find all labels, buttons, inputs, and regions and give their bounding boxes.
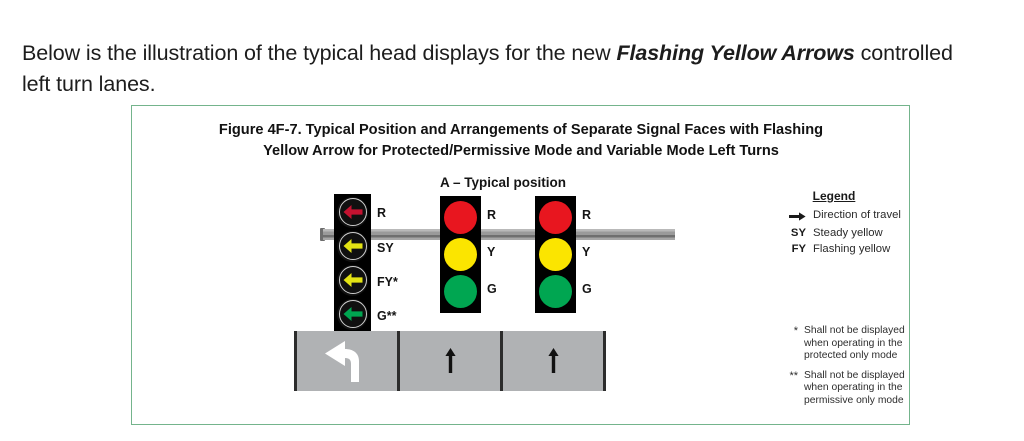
figure-caption-line-1: Figure 4F-7. Typical Position and Arrang… — [146, 120, 896, 141]
legend-key-fy: FY — [780, 243, 813, 255]
lane-left-turn — [294, 331, 397, 391]
right-arrow-icon — [780, 209, 813, 223]
lens-label-arrow-sy: SY — [377, 241, 394, 255]
legend-key-sy: SY — [780, 227, 813, 239]
footnote-text-single: Shall not be displayed when operating in… — [804, 325, 922, 363]
lens-label-ball2-y: Y — [582, 245, 590, 259]
lane-diagram — [294, 331, 606, 391]
legend-row-steady-yellow: SY Steady yellow — [780, 227, 910, 239]
lens-label-ball2-g: G — [582, 282, 592, 296]
lane-through-1 — [397, 331, 500, 391]
left-arrow-icon — [342, 238, 364, 254]
lens-green-arrow — [337, 299, 368, 330]
intro-text-before: Below is the illustration of the typical… — [22, 41, 616, 65]
figure-caption-line-2: Yellow Arrow for Protected/Permissive Mo… — [146, 141, 896, 162]
lens-label-ball2-r: R — [582, 208, 591, 222]
section-a-heading: A – Typical position — [403, 175, 603, 190]
figure-caption: Figure 4F-7. Typical Position and Arrang… — [146, 120, 896, 162]
legend-row-direction-of-travel: Direction of travel — [780, 209, 910, 223]
left-arrow-icon — [342, 272, 364, 288]
lens-label-ball1-g: G — [487, 282, 497, 296]
up-arrow-icon — [445, 348, 456, 374]
footnote-double-asterisk: ** Shall not be displayed when operating… — [782, 370, 922, 408]
lens-yellow-ball — [444, 238, 477, 271]
footnotes: * Shall not be displayed when operating … — [782, 325, 922, 415]
footnote-mark-double: ** — [782, 370, 804, 382]
legend-text-direction-of-travel: Direction of travel — [813, 209, 910, 221]
signal-head-four-section-arrow — [334, 194, 371, 332]
lens-label-arrow-r: R — [377, 206, 386, 220]
lens-label-arrow-fy: FY* — [377, 275, 398, 289]
lens-green-ball — [444, 275, 477, 308]
lane-through-2 — [500, 331, 606, 391]
signal-head-three-section-1 — [440, 196, 481, 313]
left-arrow-icon — [342, 306, 364, 322]
legend-text-flashing-yellow: Flashing yellow — [813, 243, 910, 255]
legend-row-flashing-yellow: FY Flashing yellow — [780, 243, 910, 255]
lens-green-ball — [539, 275, 572, 308]
lens-label-ball1-r: R — [487, 208, 496, 222]
intro-emphasis: Flashing Yellow Arrows — [616, 41, 854, 65]
footnote-single-asterisk: * Shall not be displayed when operating … — [782, 325, 922, 363]
lens-label-arrow-g: G** — [377, 309, 396, 323]
mast-arm — [323, 229, 675, 240]
lens-steady-yellow-arrow — [337, 231, 368, 262]
lens-red-ball — [444, 201, 477, 234]
left-arrow-icon — [342, 204, 364, 220]
footnote-mark-single: * — [782, 325, 804, 337]
lens-red-ball — [539, 201, 572, 234]
lens-flashing-yellow-arrow — [337, 265, 368, 296]
legend: Legend Direction of travel SY Steady yel… — [780, 189, 910, 259]
curved-left-turn-arrow-icon — [320, 339, 374, 383]
signal-head-three-section-2 — [535, 196, 576, 313]
footnote-text-double: Shall not be displayed when operating in… — [804, 370, 922, 408]
lens-red-arrow — [337, 197, 368, 228]
legend-text-steady-yellow: Steady yellow — [813, 227, 910, 239]
lens-yellow-ball — [539, 238, 572, 271]
up-arrow-icon — [548, 348, 559, 374]
legend-title: Legend — [788, 189, 880, 203]
figure-container: Figure 4F-7. Typical Position and Arrang… — [131, 105, 910, 425]
lens-label-ball1-y: Y — [487, 245, 495, 259]
intro-paragraph: Below is the illustration of the typical… — [22, 38, 982, 100]
